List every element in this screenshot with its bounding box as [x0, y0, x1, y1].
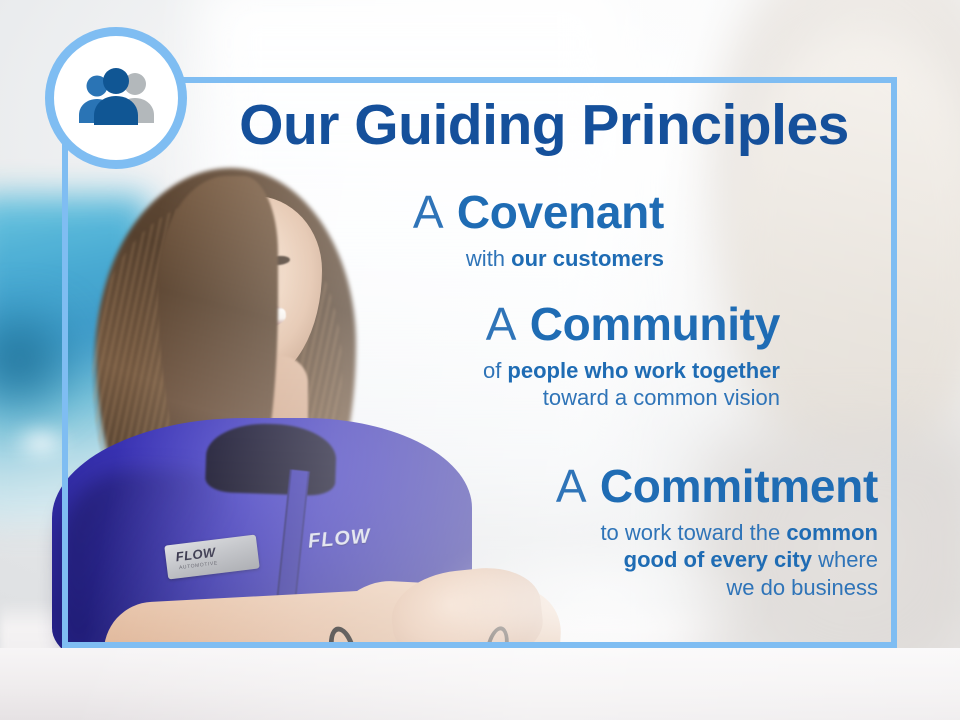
principle-commitment-sub-bold-2: good of every city	[624, 547, 812, 572]
principle-commitment-subtext: to work toward the common good of every …	[330, 519, 878, 602]
principle-covenant-subtext: with our customers	[260, 245, 664, 273]
blurred-vw-emblem	[6, 418, 76, 468]
principle-covenant-keyword: Covenant	[457, 186, 664, 238]
people-group-icon	[73, 67, 159, 129]
principle-covenant: A Covenant with our customers	[260, 188, 664, 272]
principle-covenant-article: A	[413, 186, 444, 238]
principle-commitment-sub-line-1: to work toward the common	[330, 519, 878, 547]
principle-community-heading: A Community	[300, 300, 780, 350]
blurred-car-shadow	[0, 300, 80, 420]
principle-commitment-sub-plain-2: where	[812, 547, 878, 572]
principle-covenant-sub-bold: our customers	[511, 246, 664, 271]
principle-community-sub-line-2: toward a common vision	[300, 384, 780, 412]
principle-commitment-keyword: Commitment	[600, 460, 878, 512]
principle-community-article: A	[486, 298, 517, 350]
principle-community-subtext: of people who work together toward a com…	[300, 357, 780, 412]
principle-covenant-heading: A Covenant	[260, 188, 664, 238]
principle-commitment: A Commitment to work toward the common g…	[330, 462, 878, 602]
principle-community-keyword: Community	[530, 298, 780, 350]
principle-community-sub-plain: of	[483, 358, 507, 383]
principle-commitment-sub-plain-1: to work toward the	[600, 520, 786, 545]
principle-community-sub-bold: people who work together	[507, 358, 780, 383]
principle-commitment-sub-line-3: we do business	[330, 574, 878, 602]
guiding-principles-graphic: FLOW AUTOMOTIVE FLOW Our Guiding Princip…	[0, 0, 960, 720]
principle-covenant-sub-plain: with	[466, 246, 511, 271]
principle-commitment-sub-line-2: good of every city where	[330, 546, 878, 574]
page-title: Our Guiding Principles	[214, 96, 874, 155]
principle-community-sub-line-1: of people who work together	[300, 357, 780, 385]
principle-commitment-article: A	[556, 460, 587, 512]
principle-commitment-sub-bold-1: common	[786, 520, 878, 545]
principle-community: A Community of people who work together …	[300, 300, 780, 412]
principle-commitment-heading: A Commitment	[330, 462, 878, 512]
people-badge	[45, 27, 187, 169]
